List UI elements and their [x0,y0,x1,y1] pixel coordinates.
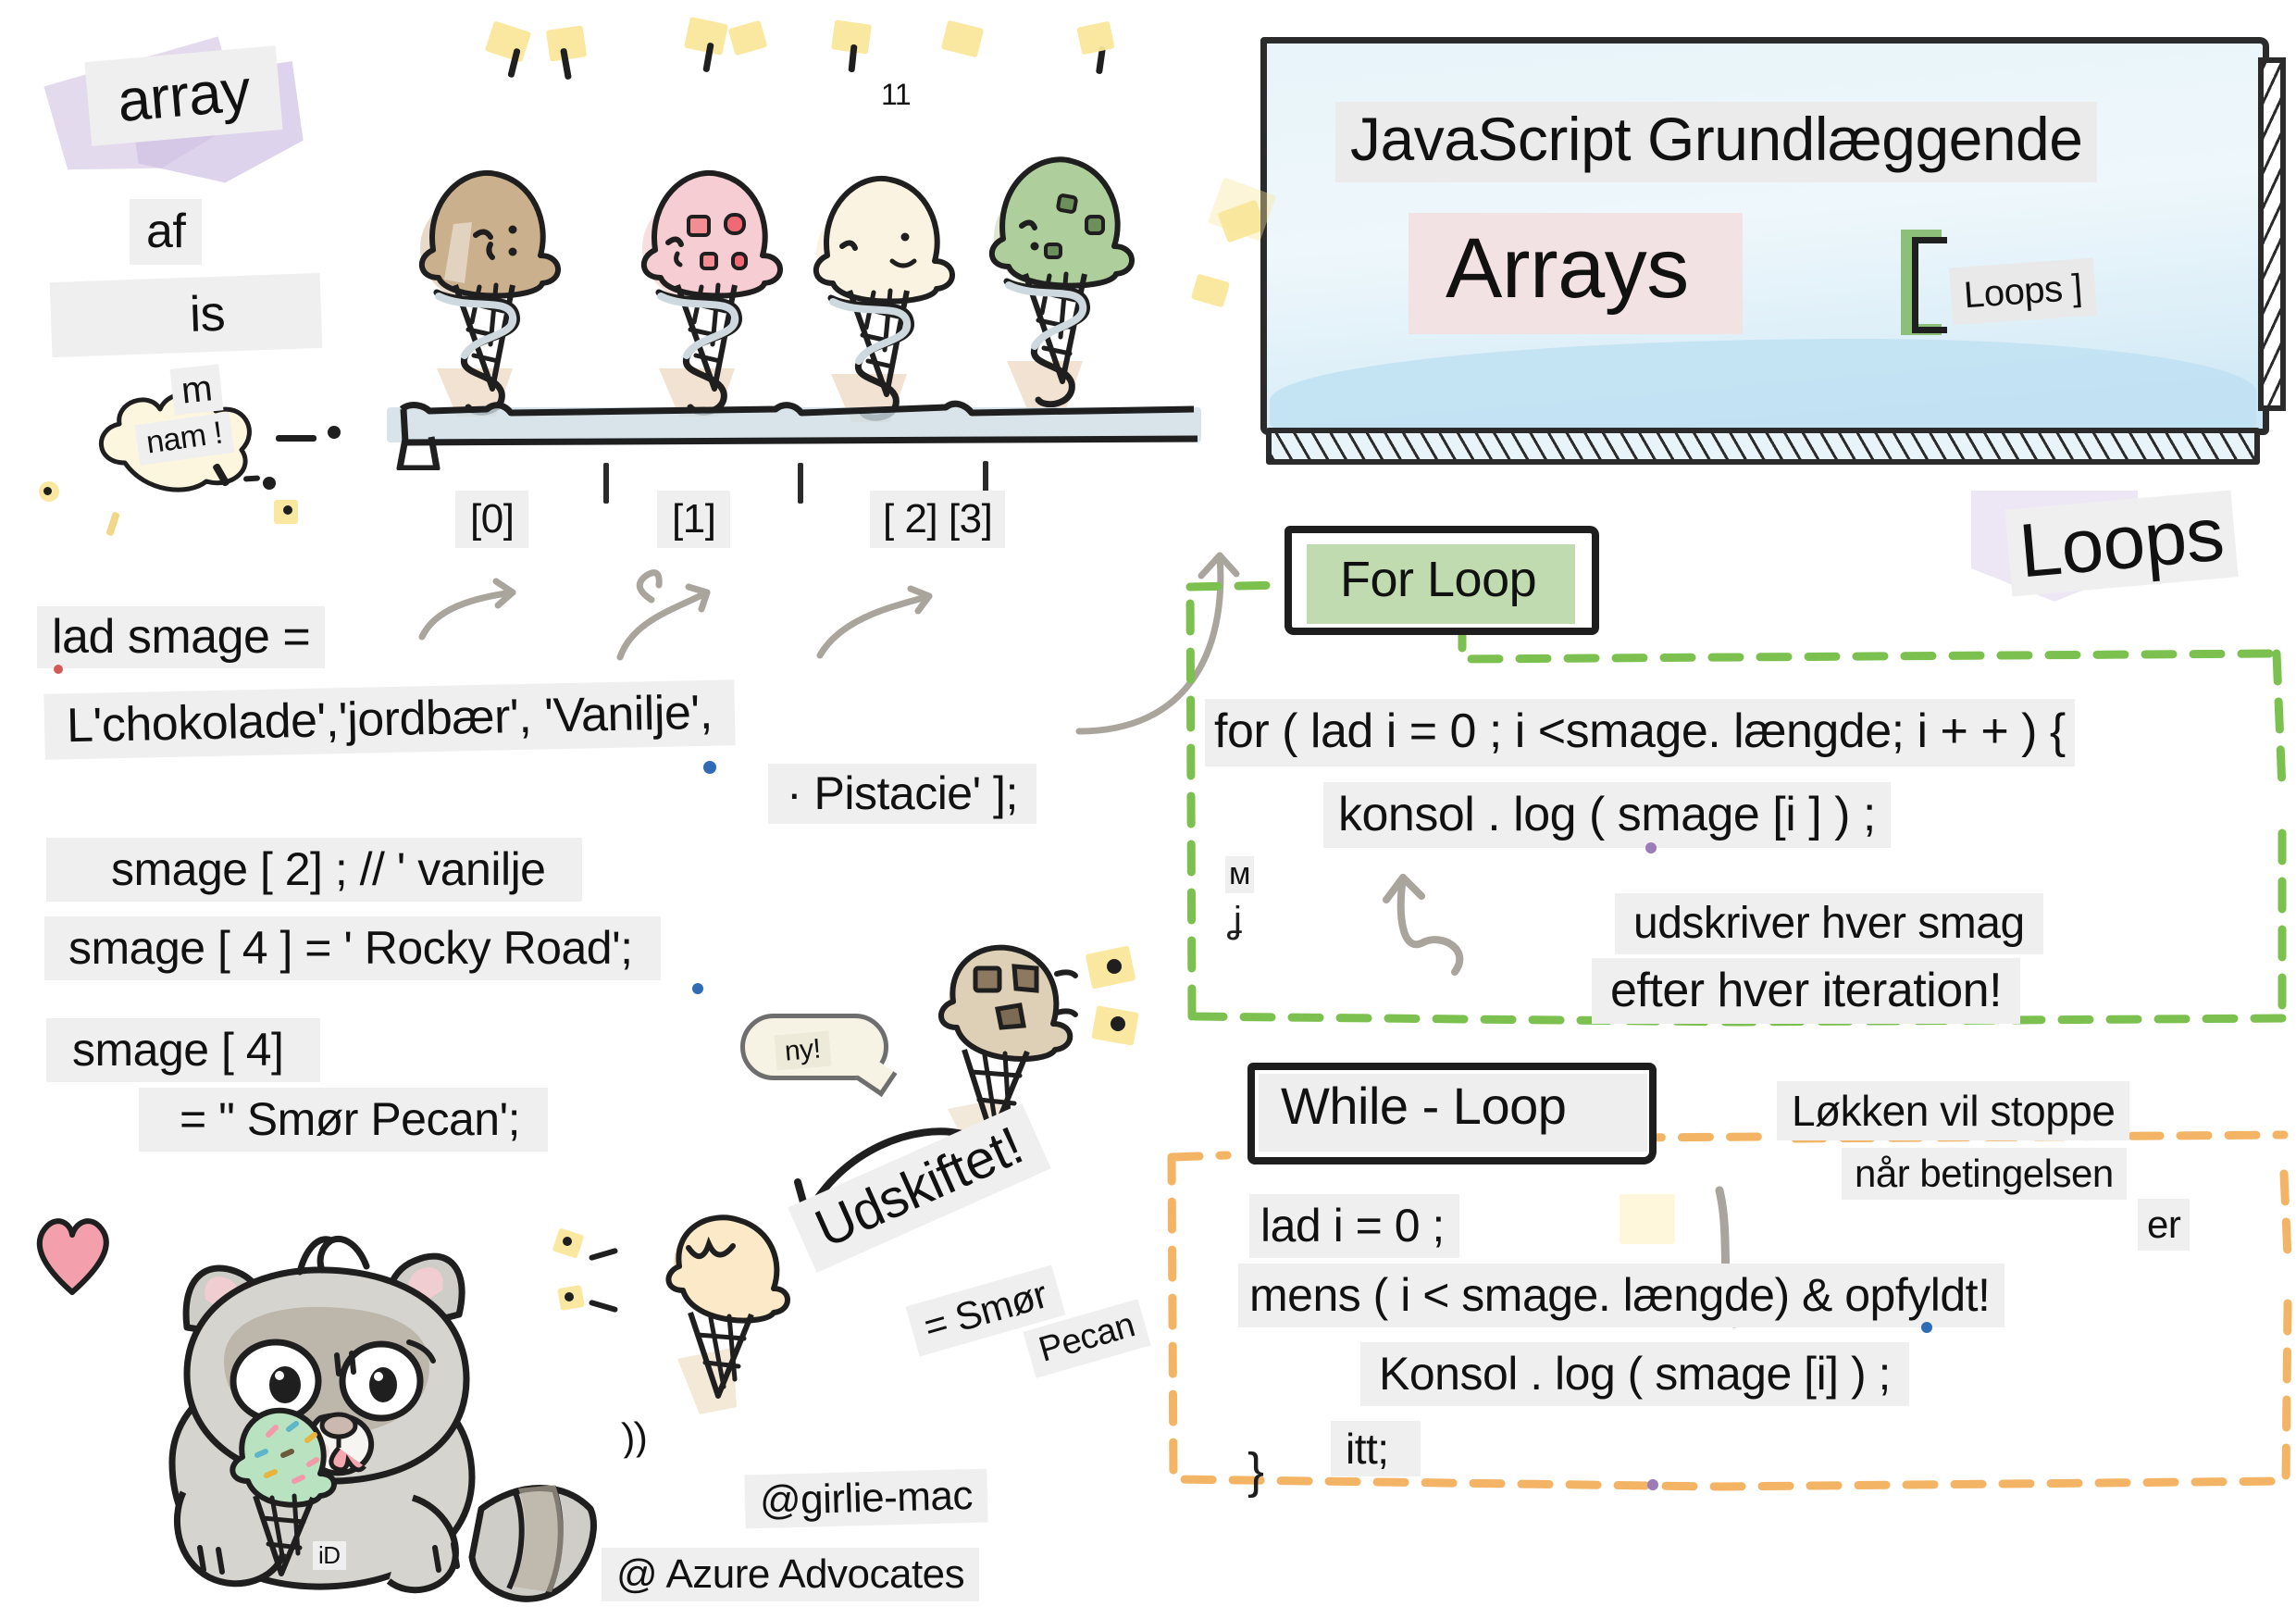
credit-org: @ Azure Advocates [602,1548,979,1601]
for-loop-chip-label: For Loop [1340,554,1536,606]
crumb-dash [43,487,52,495]
confetti-chip [728,20,768,56]
headline-word-is: is [50,273,323,357]
for-loop-code-header: for ( lad i = 0 ; i <smage. længde; i + … [1205,699,2075,766]
for-loop-code-body: konsol . log ( smage [i ] ) ; [1323,782,1891,848]
paper-wash-decoration [1620,1194,1675,1244]
credit-handle: @girlie-mac [744,1469,987,1529]
code-line-declaration: lad smage = [37,606,325,668]
blue-dot-decoration [1921,1322,1932,1333]
confetti-dot [1111,1016,1125,1031]
ice-cream-scoop-chocolate [400,139,585,417]
arrow-to-index-2 [814,555,962,666]
sketchnote-canvas: 11 JavaScript Grundlæggende Arrays Loops… [0,0,2296,1619]
index-tick [798,463,803,504]
code-line-assign-rocky: smage [ 4 ] = ' Rocky Road'; [44,916,661,980]
confetti-dot [565,1292,574,1301]
while-loop-note-line-3: er [2138,1199,2190,1251]
array-index-0: [0] [455,491,528,548]
while-loop-closing-brace: } [1247,1442,1264,1500]
headline-word-array: array [84,45,282,146]
array-index-2-3: [ 2] [3] [870,491,1005,548]
thought-label-m: m [170,364,224,415]
page-subtitle: Arrays [1409,213,1743,334]
while-loop-note-line-2: når betingelsen [1842,1148,2127,1200]
for-loop-closing-mark-2: ʝ [1227,900,1242,941]
headline-word-af: af [130,199,202,265]
code-line-access: smage [ 2] ; // ' vanilje [46,838,582,902]
top-number: 11 [881,80,911,111]
red-mark [54,665,63,674]
blue-check-mark [692,983,703,994]
while-loop-code-increment: itt; [1331,1421,1421,1476]
raccoon-signature: iD [313,1541,346,1570]
ice-cream-scoop-vanilla [794,144,979,422]
confetti-chip [1076,21,1114,56]
for-loop-note-line-2: efter hver iteration! [1592,958,2020,1024]
crumb-dash [283,505,292,515]
code-line-values-2: · Pistacie' ]; [768,764,1036,824]
purple-dot-decoration [1647,1479,1658,1490]
array-index-1: [1] [657,491,730,548]
for-loop-closing-mark-1: м [1225,856,1254,893]
open-bracket-outline-icon [1912,237,1947,333]
confetti-chip [1191,274,1230,308]
confetti-dot [1107,959,1122,974]
blue-check-mark [703,761,716,774]
page-title: JavaScript Grundlæggende [1335,102,2097,182]
arrow-to-index-0 [416,544,546,646]
title-loops-tag: Loops ] [1949,258,2097,326]
while-loop-code-body: Konsol . log ( smage [i] ) ; [1360,1342,1909,1406]
while-loop-chip-label: While - Loop [1281,1079,1566,1134]
code-line-values-1: L'chokolade','jordbær', 'Vanilje', [43,679,735,759]
ice-cream-scoop-strawberry [622,139,807,417]
code-line-assign-smor: = " Smør Pecan'; [139,1088,548,1152]
annotation-paren: )) [620,1415,648,1458]
code-line-index-4: smage [ 4] [46,1018,320,1082]
arrow-to-index-1 [611,555,740,666]
while-loop-code-init: lad i = 0 ; [1249,1194,1459,1258]
title-card-bottom-edge-hatch [1266,428,2260,465]
confetti-chip [941,20,985,58]
confetti-chip [485,20,531,62]
purple-dot-decoration [1645,842,1657,853]
arrow-to-for-log [1370,861,1508,981]
while-loop-note-line-1: Løkken vil stoppe [1777,1081,2129,1140]
speech-bubble-label: ny! [774,1031,831,1070]
title-card-right-edge-hatch [2258,57,2286,411]
crumb-dash [105,511,120,536]
index-tick [603,463,609,504]
for-loop-note-line-1: udskriver hver smag [1615,893,2043,954]
while-loop-code-condition: mens ( i < smage. længde) & opfyldt! [1238,1264,2004,1327]
crumb-dash [328,426,341,439]
confetti-dot [563,1237,572,1246]
array-shelf [387,396,1201,470]
ice-cream-scoop-pistachio [970,128,1155,415]
crumb-dash [276,435,316,442]
